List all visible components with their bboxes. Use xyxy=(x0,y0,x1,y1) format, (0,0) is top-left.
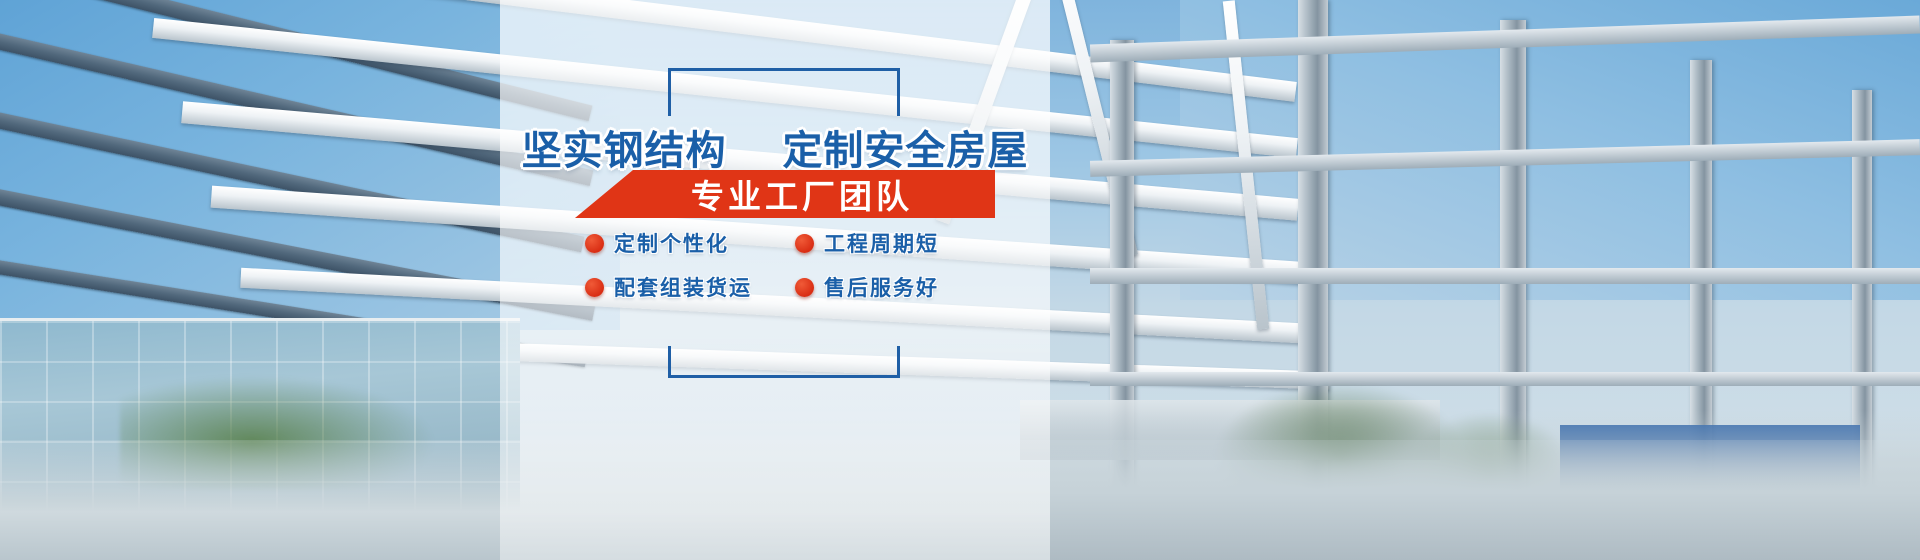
headline: 坚实钢结构 定制安全房屋 xyxy=(500,118,1050,176)
bracket-top-right-tick xyxy=(897,68,900,116)
list-item: 配套组装货运 xyxy=(585,272,795,302)
ground-right xyxy=(1050,410,1920,560)
headline-part-2: 定制安全房屋 xyxy=(782,128,1028,174)
list-item: 定制个性化 xyxy=(585,228,795,258)
bracket-top-left xyxy=(668,68,900,116)
feature-label: 定制个性化 xyxy=(614,228,729,258)
feature-list: 定制个性化 工程周期短 配套组装货运 售后服务好 xyxy=(585,228,1005,302)
roof-rail xyxy=(1090,268,1920,284)
feature-label: 售后服务好 xyxy=(824,272,939,302)
feature-label: 配套组装货运 xyxy=(614,272,752,302)
ribbon: 专业工厂团队 xyxy=(575,170,995,218)
ribbon-label: 专业工厂团队 xyxy=(575,170,995,218)
red-dot-icon xyxy=(585,278,604,297)
feature-label: 工程周期短 xyxy=(824,228,939,258)
headline-part-1: 坚实钢结构 xyxy=(522,128,727,174)
list-item: 工程周期短 xyxy=(795,228,995,258)
red-dot-icon xyxy=(795,278,814,297)
bracket-bottom-right-tick xyxy=(897,346,900,378)
red-dot-icon xyxy=(795,234,814,253)
bracket-bottom-left xyxy=(668,346,900,378)
hero-banner: 坚实钢结构 定制安全房屋 专业工厂团队 定制个性化 工程周期短 配套组装货运 售… xyxy=(0,0,1920,560)
red-dot-icon xyxy=(585,234,604,253)
list-item: 售后服务好 xyxy=(795,272,995,302)
